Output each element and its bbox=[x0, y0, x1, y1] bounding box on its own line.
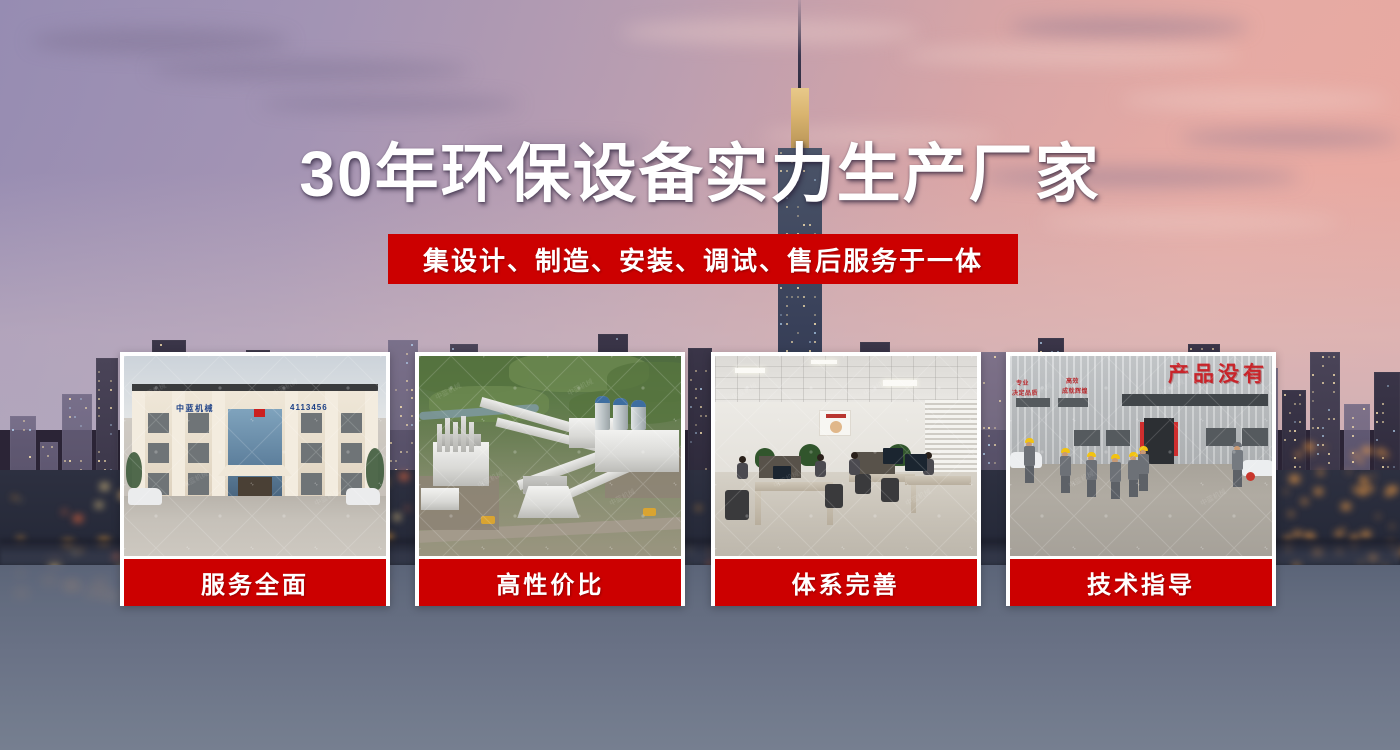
card-caption-text: 体系完善 bbox=[792, 565, 900, 600]
feature-card-service[interactable]: 中蓝机械 4113456 中蓝机械中蓝机械中蓝机械中蓝机 bbox=[120, 352, 390, 606]
card-caption-bar: 高性价比 bbox=[419, 559, 681, 606]
feature-card-value[interactable]: 中蓝机械中蓝机械中蓝机械中蓝机械 高性价比 bbox=[415, 352, 685, 606]
card-caption-bar: 技术指导 bbox=[1010, 559, 1272, 606]
factory-slogan-3: 高效 bbox=[1066, 376, 1079, 385]
factory-slogan-1: 专业 bbox=[1016, 378, 1029, 387]
office-building-staff-photo: 中蓝机械 4113456 中蓝机械中蓝机械中蓝机械中蓝机 bbox=[124, 356, 386, 556]
card-caption-text: 高性价比 bbox=[496, 565, 604, 600]
factory-yard-workers-photo: 产品没有 专业 决定品质 高效 成就辉煌 bbox=[1010, 356, 1272, 556]
factory-slogan-4: 成就辉煌 bbox=[1062, 386, 1088, 395]
card-caption-text: 技术指导 bbox=[1087, 565, 1195, 600]
card-caption-text: 服务全面 bbox=[201, 565, 309, 600]
card-caption-bar: 体系完善 bbox=[715, 559, 977, 606]
page-title: 30年环保设备实力生产厂家 bbox=[0, 138, 1400, 210]
factory-slogan-2: 决定品质 bbox=[1012, 388, 1038, 397]
promo-banner: 30年环保设备实力生产厂家 集设计、制造、安装、调试、售后服务于一体 bbox=[0, 0, 1400, 750]
feature-card-row: 中蓝机械 4113456 中蓝机械中蓝机械中蓝机械中蓝机 bbox=[120, 352, 1276, 606]
feature-card-system[interactable]: 中蓝机械中蓝机械中蓝机械中蓝机械 体系完善 bbox=[711, 352, 981, 606]
office-interior-staff-photo: 中蓝机械中蓝机械中蓝机械中蓝机械 bbox=[715, 356, 977, 556]
building-sign-text: 中蓝机械 bbox=[176, 403, 214, 414]
card-caption-bar: 服务全面 bbox=[124, 559, 386, 606]
aerial-industrial-plant-photo: 中蓝机械中蓝机械中蓝机械中蓝机械 bbox=[419, 356, 681, 556]
subtitle-banner: 集设计、制造、安装、调试、售后服务于一体 bbox=[388, 234, 1018, 284]
building-phone-text: 4113456 bbox=[290, 403, 328, 412]
feature-card-training[interactable]: 产品没有 专业 决定品质 高效 成就辉煌 bbox=[1006, 352, 1276, 606]
factory-sign-text: 产品没有 bbox=[1168, 358, 1268, 388]
subtitle-text: 集设计、制造、安装、调试、售后服务于一体 bbox=[423, 241, 983, 278]
